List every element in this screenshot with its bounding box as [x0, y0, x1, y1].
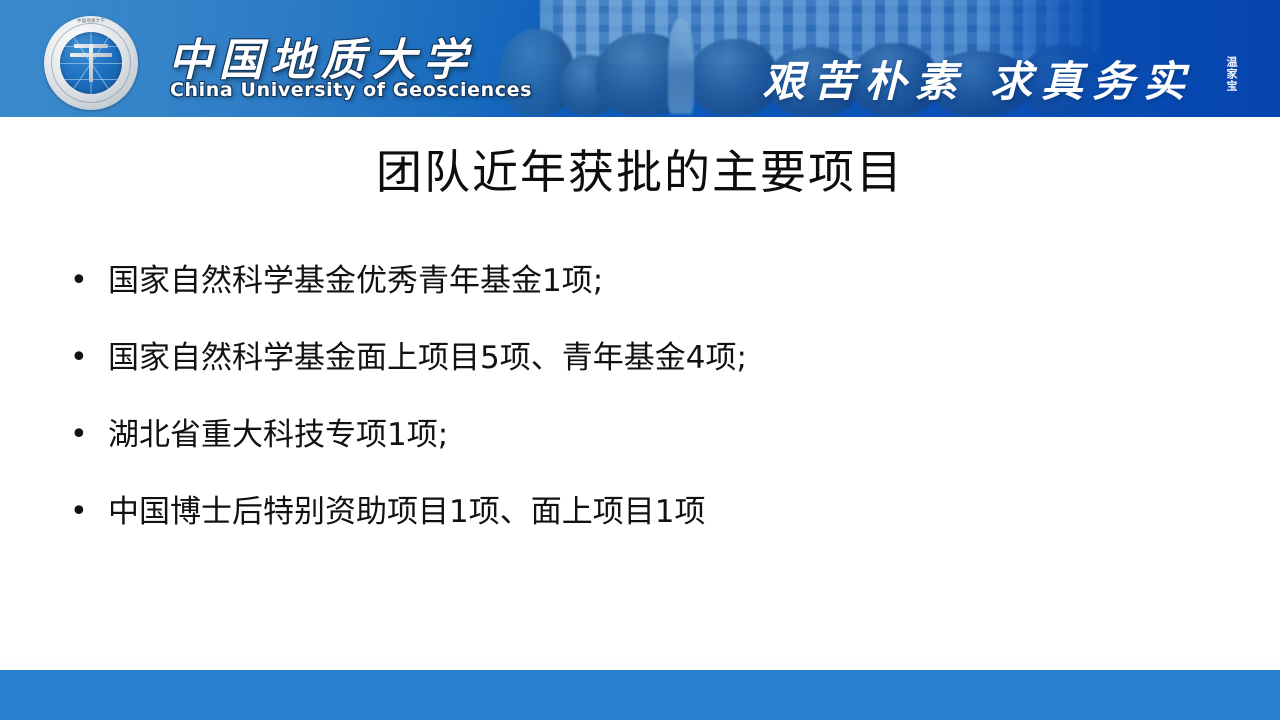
- bullet-marker-icon: •: [62, 335, 108, 381]
- slide-footer-bar: [0, 670, 1280, 720]
- university-motto: 艰苦朴素 求真务实: [762, 48, 1194, 109]
- seal-hammer-stem: [89, 44, 93, 81]
- motto-signature: 温家宝: [1216, 56, 1238, 92]
- bullet-list: • 国家自然科学基金优秀青年基金1项; • 国家自然科学基金面上项目5项、青年基…: [62, 258, 1222, 566]
- bullet-text: 国家自然科学基金优秀青年基金1项;: [108, 258, 1222, 304]
- slide-header-banner: 中国地质大学 中国地质大学 China University of Geosci…: [0, 0, 1280, 117]
- seal-globe-icon: [60, 32, 122, 94]
- list-item: • 湖北省重大科技专项1项;: [62, 412, 1222, 489]
- list-item: • 国家自然科学基金面上项目5项、青年基金4项;: [62, 335, 1222, 412]
- bullet-text: 湖北省重大科技专项1项;: [108, 412, 1222, 458]
- list-item: • 国家自然科学基金优秀青年基金1项;: [62, 258, 1222, 335]
- bullet-marker-icon: •: [62, 489, 108, 535]
- presentation-slide: 中国地质大学 中国地质大学 China University of Geosci…: [0, 0, 1280, 720]
- university-name-en: China University of Geosciences: [170, 79, 532, 101]
- bullet-text: 国家自然科学基金面上项目5项、青年基金4项;: [108, 335, 1222, 381]
- page-title: 团队近年获批的主要项目: [0, 143, 1280, 201]
- university-seal-icon: 中国地质大学: [44, 16, 138, 110]
- list-item: • 中国博士后特别资助项目1项、面上项目1项: [62, 489, 1222, 566]
- bullet-marker-icon: •: [62, 412, 108, 458]
- bullet-marker-icon: •: [62, 258, 108, 304]
- bullet-text: 中国博士后特别资助项目1项、面上项目1项: [108, 489, 1222, 535]
